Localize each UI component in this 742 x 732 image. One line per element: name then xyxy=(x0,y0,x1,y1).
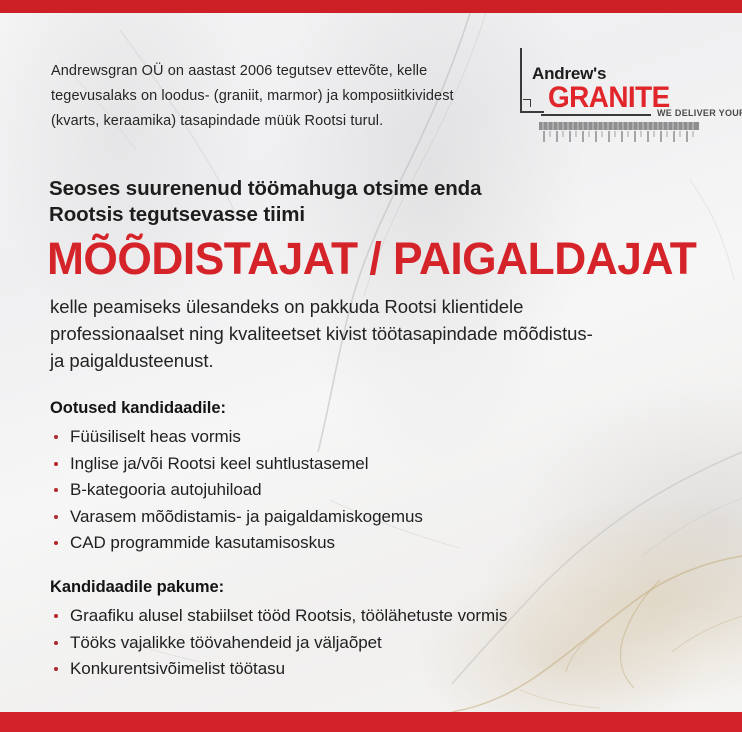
offer-section: Kandidaadile pakume: Graafiku alusel sta… xyxy=(50,578,507,683)
list-item: Tööks vajalikke töövahendeid ja väljaõpe… xyxy=(50,630,507,657)
bullet-dot-icon xyxy=(54,541,58,545)
list-item-label: B-kategooria autojuhiload xyxy=(70,480,262,499)
expectations-title: Ootused kandidaadile: xyxy=(50,399,423,418)
list-item-label: Inglise ja/või Rootsi keel suhtlustaseme… xyxy=(70,454,368,473)
list-item: Konkurentsivõimelist töötasu xyxy=(50,656,507,683)
expectations-list: Füüsiliselt heas vormis Inglise ja/või R… xyxy=(50,424,423,557)
list-item-label: Füüsiliselt heas vormis xyxy=(70,427,241,446)
list-item-label: Graafiku alusel stabiilset tööd Rootsis,… xyxy=(70,606,507,625)
list-item: B-kategooria autojuhiload xyxy=(50,477,423,504)
bullet-dot-icon xyxy=(54,515,58,519)
lead-heading: Seoses suurenenud töömahuga otsime enda … xyxy=(49,176,519,228)
role-description: kelle peamiseks ülesandeks on pakkuda Ro… xyxy=(50,293,610,374)
offer-title: Kandidaadile pakume: xyxy=(50,578,507,597)
bullet-dot-icon xyxy=(54,435,58,439)
list-item-label: Tööks vajalikke töövahendeid ja väljaõpe… xyxy=(70,633,382,652)
bullet-dot-icon xyxy=(54,641,58,645)
bullet-dot-icon xyxy=(54,462,58,466)
ruler-icon xyxy=(539,122,699,157)
bullet-dot-icon xyxy=(54,488,58,492)
bullet-dot-icon xyxy=(54,614,58,618)
logo-brand-main: GRANITE xyxy=(548,81,670,115)
company-intro-paragraph: Andrewsgran OÜ on aastast 2006 tegutsev … xyxy=(51,59,481,134)
list-item: Füüsiliselt heas vormis xyxy=(50,424,423,451)
list-item: Inglise ja/või Rootsi keel suhtlustaseme… xyxy=(50,451,423,478)
list-item-label: Konkurentsivõimelist töötasu xyxy=(70,659,285,678)
job-advertisement-poster: Andrewsgran OÜ on aastast 2006 tegutsev … xyxy=(0,0,742,732)
list-item: CAD programmide kasutamisoskus xyxy=(50,530,423,557)
bullet-dot-icon xyxy=(54,667,58,671)
logo-right-angle-icon xyxy=(523,99,531,107)
expectations-section: Ootused kandidaadile: Füüsiliselt heas v… xyxy=(50,399,423,557)
list-item: Varasem mõõdistamis- ja paigaldamiskogem… xyxy=(50,504,423,531)
logo-tagline: WE DELIVER YOUR DESIGN xyxy=(657,108,742,119)
job-title-headline: MÕÕDISTAJAT / PAIGALDAJAT xyxy=(47,234,696,284)
logo-tagline-rule-icon xyxy=(541,114,651,116)
company-logo: Andrew's GRANITE WE DELIVER YOUR DESIGN xyxy=(515,48,715,133)
list-item: Graafiku alusel stabiilset tööd Rootsis,… xyxy=(50,603,507,630)
poster-content: Andrewsgran OÜ on aastast 2006 tegutsev … xyxy=(0,0,742,732)
list-item-label: CAD programmide kasutamisoskus xyxy=(70,533,335,552)
offer-list: Graafiku alusel stabiilset tööd Rootsis,… xyxy=(50,603,507,683)
list-item-label: Varasem mõõdistamis- ja paigaldamiskogem… xyxy=(70,507,423,526)
